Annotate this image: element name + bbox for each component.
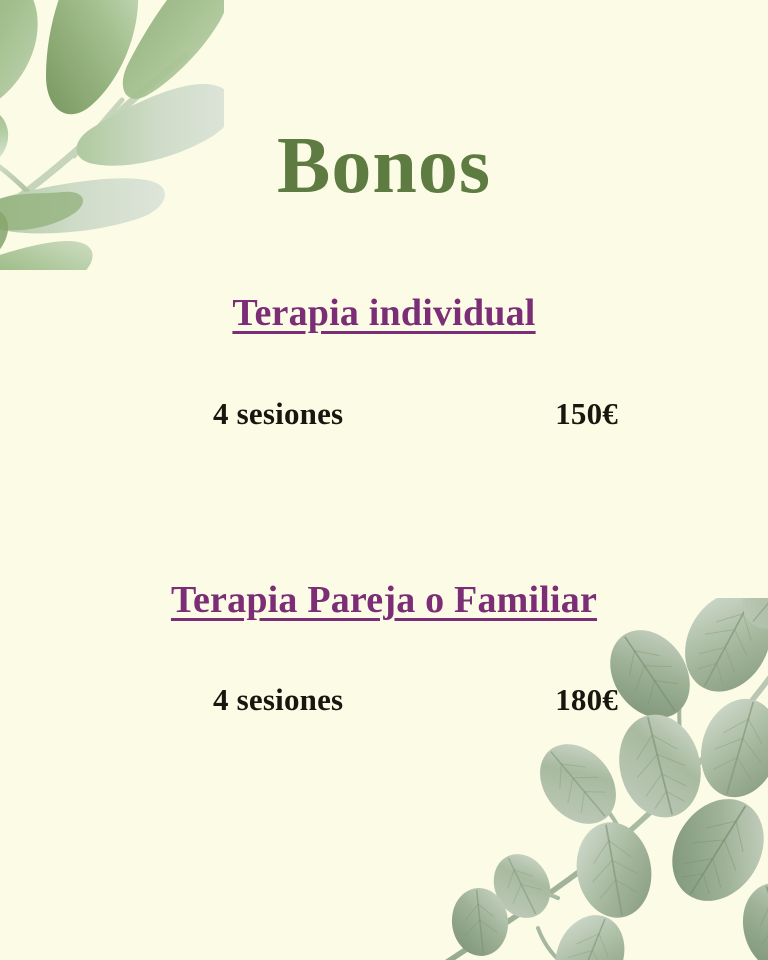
bonos-sections: Terapia individual 4 sesiones 150€ Terap… (0, 292, 768, 717)
section-terapia-pareja-o-familiar: Terapia Pareja o Familiar 4 sesiones 180… (0, 579, 768, 718)
section-heading-container: Terapia individual (0, 292, 768, 335)
page-title: Bonos (277, 126, 491, 206)
price-row-amount: 150€ (555, 397, 618, 431)
page-title-container: Bonos (0, 72, 768, 259)
section-heading-terapia-pareja-o-familiar: Terapia Pareja o Familiar (171, 579, 597, 622)
section-heading-container: Terapia Pareja o Familiar (0, 579, 768, 622)
section-heading-terapia-individual: Terapia individual (232, 292, 535, 335)
section-rows: 4 sesiones 150€ (0, 397, 768, 431)
price-row-amount: 180€ (555, 683, 618, 717)
bonos-poster: Bonos Terapia individual 4 sesiones 150€… (0, 0, 768, 960)
price-row-label: 4 sesiones (213, 683, 343, 717)
section-terapia-individual: Terapia individual 4 sesiones 150€ (0, 292, 768, 431)
section-rows: 4 sesiones 180€ (0, 683, 768, 717)
price-row: 4 sesiones 150€ (213, 397, 618, 431)
price-row-label: 4 sesiones (213, 397, 343, 431)
price-row: 4 sesiones 180€ (213, 683, 618, 717)
